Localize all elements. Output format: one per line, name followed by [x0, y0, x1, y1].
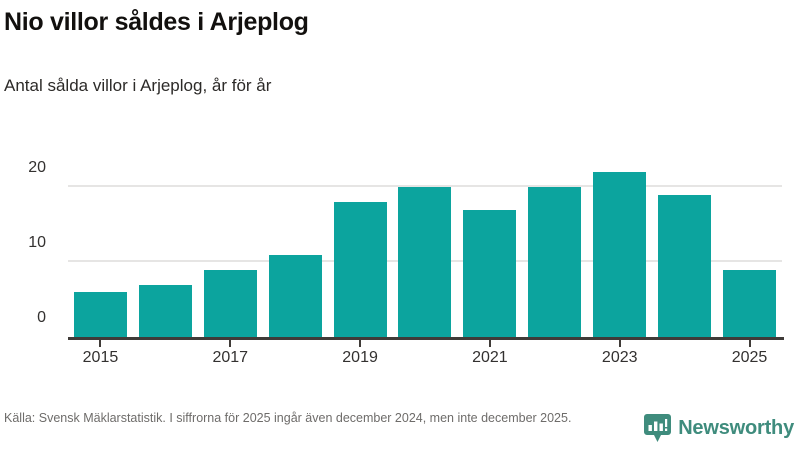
bar-2017[interactable] [204, 270, 257, 337]
bar-2016[interactable] [139, 285, 192, 337]
x-axis-ticks: 201520172019202120232025 [68, 340, 782, 374]
bar-2020[interactable] [398, 187, 451, 337]
bar-cell [522, 165, 587, 337]
bar-chart-pin-icon [644, 414, 671, 443]
bar-cell [652, 165, 717, 337]
x-tick-mark-2023 [619, 340, 621, 347]
y-axis-label-10: 10 [0, 234, 68, 252]
page-title: Nio villor såldes i Arjeplog [4, 8, 309, 37]
source-note: Källa: Svensk Mäklarstatistik. I siffror… [4, 410, 634, 426]
bar-2019[interactable] [334, 202, 387, 337]
bar-cell [457, 165, 522, 337]
bar-2022[interactable] [528, 187, 581, 337]
bar-2018[interactable] [269, 255, 322, 337]
bar-cell [393, 165, 458, 337]
x-axis-label-2025: 2025 [732, 349, 768, 367]
bar-2023[interactable] [593, 172, 646, 337]
bar-2024[interactable] [658, 195, 711, 337]
page-subtitle: Antal sålda villor i Arjeplog, år för år [4, 76, 271, 96]
y-axis-label-0: 0 [0, 309, 68, 327]
bar-cell [263, 165, 328, 337]
plot-area: 01020 [68, 165, 782, 337]
newsworthy-logo[interactable]: Newsworthy [644, 414, 794, 443]
logo-wordmark: Newsworthy [678, 417, 794, 440]
x-axis-label-2021: 2021 [472, 349, 508, 367]
bar-2025[interactable] [723, 270, 776, 337]
bar-2015[interactable] [74, 292, 127, 337]
chart-page: Nio villor såldes i Arjeplog Antal sålda… [0, 0, 800, 450]
bar-chart: 01020 201520172019202120232025 [0, 140, 800, 355]
x-axis-label-2023: 2023 [602, 349, 638, 367]
x-tick-mark-2019 [359, 340, 361, 347]
x-tick-mark-2025 [749, 340, 751, 347]
bar-series [68, 165, 782, 337]
x-axis-label-2015: 2015 [83, 349, 119, 367]
bar-cell [587, 165, 652, 337]
bar-cell [133, 165, 198, 337]
bar-cell [68, 165, 133, 337]
bar-cell [717, 165, 782, 337]
x-axis-label-2019: 2019 [342, 349, 378, 367]
x-tick-mark-2021 [489, 340, 491, 347]
bar-cell [328, 165, 393, 337]
x-tick-mark-2015 [99, 340, 101, 347]
bar-cell [198, 165, 263, 337]
y-axis-label-20: 20 [0, 159, 68, 177]
bar-2021[interactable] [463, 210, 516, 337]
x-tick-mark-2017 [229, 340, 231, 347]
x-axis-label-2017: 2017 [212, 349, 248, 367]
